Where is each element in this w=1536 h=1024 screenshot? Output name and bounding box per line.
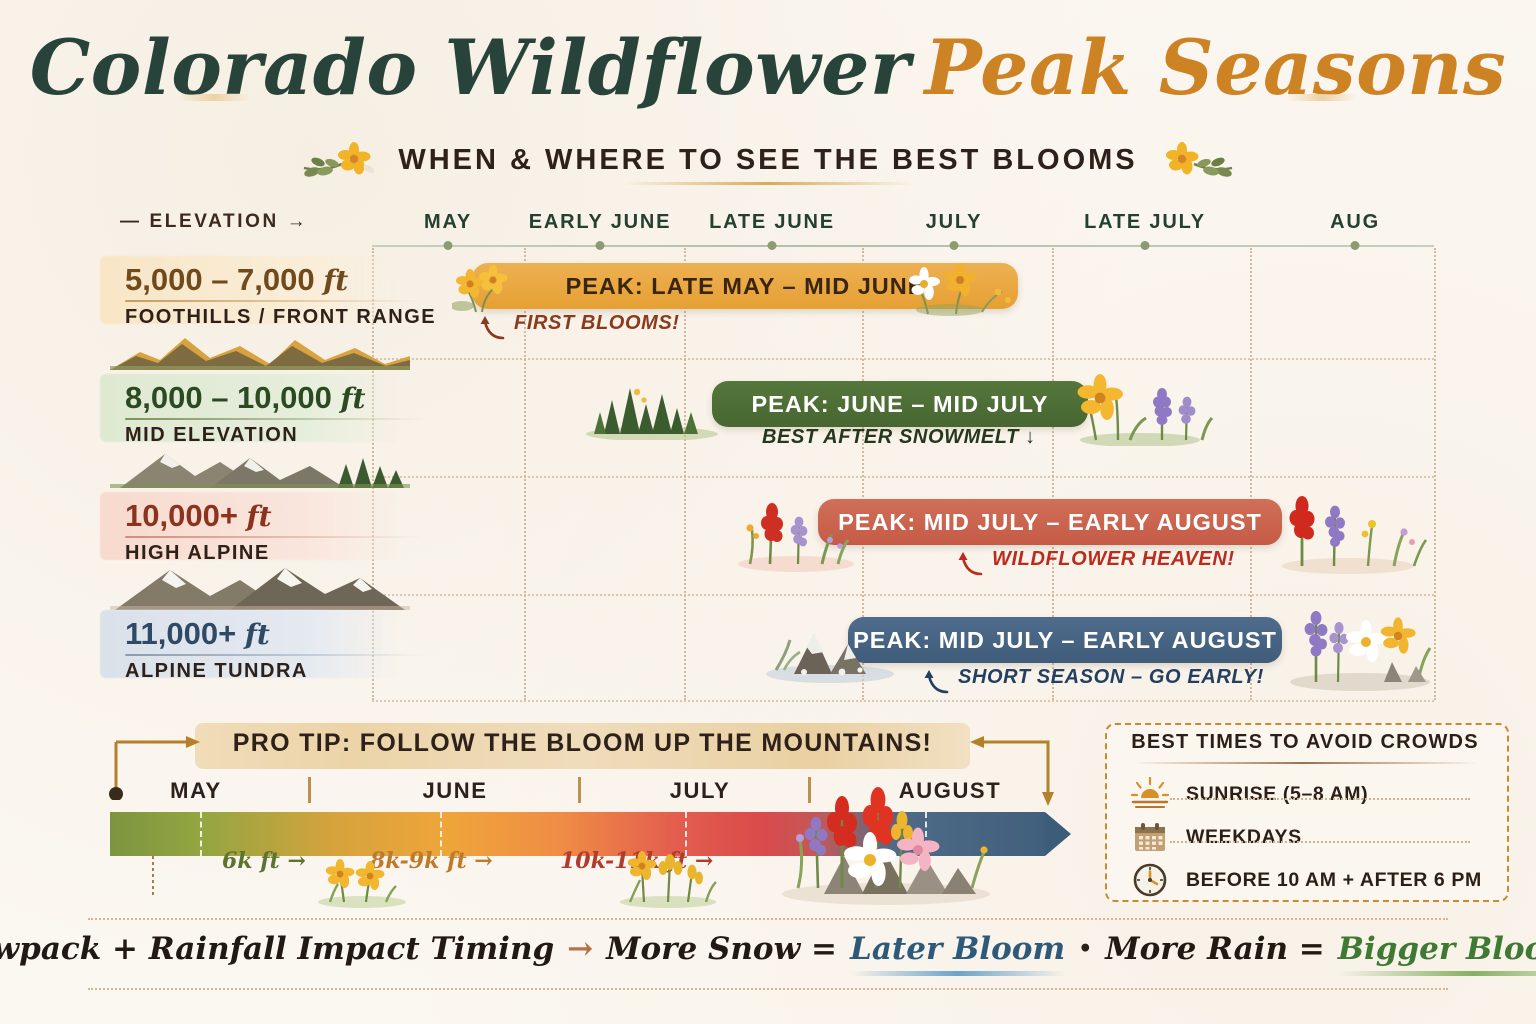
month-header-early-june: EARLY JUNE (529, 211, 672, 234)
bloom-elevation-label-10k11k: 10k-11k ft → (560, 848, 713, 874)
elevation-caption-tundra: ALPINE TUNDRA (125, 660, 308, 683)
footer-accent-text: Later Bloom (850, 931, 1065, 967)
elevation-value-tundra: 11,000+ ft (125, 616, 270, 652)
conifer-cluster-mid-icon (580, 378, 730, 445)
grid-line-horizontal (372, 594, 1434, 596)
elevation-value-mid: 8,000 – 10,000 ft (125, 380, 365, 416)
flower-cluster-mid-icon (1070, 368, 1220, 451)
axis-tick-dot (444, 241, 453, 250)
footer-divider-top (88, 918, 1448, 920)
protip-month-june: JUNE (422, 778, 487, 804)
annotation-mid: BEST AFTER SNOWMELT ↓ (762, 426, 1036, 449)
annotation-arrow-high-alpine-icon (952, 545, 986, 582)
grid-line-horizontal (372, 700, 1434, 702)
footer-accent-text: Bigger Blooms! (1338, 931, 1536, 967)
annotation-high-alpine: WILDFLOWER HEAVEN! (992, 548, 1235, 571)
bloom-bracket-left (152, 856, 154, 896)
title-flourish-left (178, 94, 250, 101)
elevation-number: 8,000 – 10,000 (125, 380, 332, 415)
footer-accent-underline (850, 971, 1065, 976)
best-times-label-weekdays: WEEKDAYS (1186, 826, 1302, 849)
flower-cluster-alpine-right-icon (1272, 486, 1432, 579)
mountain-illustration-high-alpine (110, 562, 410, 615)
subtitle-row: WHEN & WHERE TO SEE THE BEST BLOOMS (0, 138, 1536, 182)
best-times-title-divider (1132, 762, 1478, 764)
peak-bar-foothills[interactable]: PEAK: LATE MAY – MID JUNE (472, 263, 1018, 309)
month-header-may: MAY (424, 211, 472, 234)
axis-tick-dot (596, 241, 605, 250)
elevation-value-high-alpine: 10,000+ ft (125, 498, 272, 534)
elevation-unit: ft (247, 500, 272, 533)
bloom-bar-tick (925, 812, 927, 856)
grid-line-vertical (1434, 248, 1436, 700)
protip-month-july: JULY (670, 778, 731, 804)
grid-line-horizontal (372, 358, 1434, 360)
footer-phrase1-prefix: More Snow = (606, 931, 837, 967)
protip-tick (308, 777, 311, 803)
footer-arrow-icon: → (567, 931, 593, 967)
flower-cluster-tundra-icon (1280, 596, 1440, 697)
elevation-divider (125, 300, 425, 302)
best-times-divider (1170, 798, 1470, 800)
protip-month-august: AUGUST (899, 778, 1002, 804)
elevation-value-foothills: 5,000 – 7,000 ft (125, 262, 348, 298)
elevation-unit: ft (323, 264, 348, 297)
flower-sprig-left-icon (298, 138, 384, 182)
peak-bar-label: PEAK: MID JULY – EARLY AUGUST (853, 627, 1277, 654)
footer-accent-bigger-blooms: Bigger Blooms! (1338, 931, 1536, 967)
protip-tick (578, 777, 581, 803)
grid-line-horizontal (372, 476, 1434, 478)
month-header-late-july: LATE JULY (1084, 211, 1206, 234)
clock-icon (1130, 862, 1170, 898)
peak-bar-label: PEAK: JUNE – MID JULY (752, 391, 1049, 418)
axis-tick-dot (950, 241, 959, 250)
best-times-row-hours[interactable]: BEFORE 10 AM + AFTER 6 PM (1130, 858, 1490, 902)
footer-lead: Snowpack + Rainfall Impact Timing (0, 931, 554, 967)
footer-separator: • (1078, 936, 1092, 962)
footer-accent-later-bloom: Later Bloom (850, 931, 1065, 967)
protip-tick (808, 777, 811, 803)
footer-note: Snowpack + Rainfall Impact Timing → More… (0, 925, 1536, 973)
footer-accent-underline (1338, 971, 1536, 976)
infographic-canvas: Colorado WildflowerPeak Seasons (0, 0, 1536, 1024)
elevation-number: 10,000+ (125, 498, 238, 533)
elevation-divider (125, 654, 425, 656)
month-header-late-june: LATE JUNE (709, 211, 835, 234)
title-part-one: Colorado Wildflower (30, 23, 911, 112)
calendar-icon (1130, 820, 1170, 854)
best-times-row-weekdays[interactable]: WEEKDAYS (1130, 815, 1490, 859)
annotation-arrow-foothills-icon (474, 309, 508, 346)
best-times-row-sunrise[interactable]: SUNRISE (5–8 AM) (1130, 772, 1490, 816)
protip-text: PRO TIP: FOLLOW THE BLOOM UP THE MOUNTAI… (195, 729, 970, 758)
sunrise-icon (1130, 777, 1170, 811)
elevation-caption-foothills: FOOTHILLS / FRONT RANGE (125, 306, 436, 329)
axis-tick-dot (1351, 241, 1360, 250)
elevation-number: 5,000 – 7,000 (125, 262, 315, 297)
elevation-number: 11,000+ (125, 616, 236, 651)
subtitle-underline (623, 182, 913, 185)
title-flourish-right (1286, 94, 1358, 101)
axis-tick-dot (768, 241, 777, 250)
peak-bar-label: PEAK: MID JULY – EARLY AUGUST (838, 509, 1262, 536)
footer-phrase2-prefix: More Rain = (1105, 931, 1324, 967)
month-header-aug: AUG (1330, 211, 1380, 234)
elevation-caption-mid: MID ELEVATION (125, 424, 298, 447)
footer-divider-bottom (88, 988, 1448, 990)
best-times-label-hours: BEFORE 10 AM + AFTER 6 PM (1186, 869, 1482, 892)
month-header-july: JULY (926, 211, 983, 234)
grid-line-vertical (684, 248, 686, 700)
subtitle: WHEN & WHERE TO SEE THE BEST BLOOMS (398, 144, 1137, 177)
mountain-illustration-mid (110, 446, 410, 493)
flower-sprig-right-icon (1152, 138, 1238, 182)
best-times-label-sunrise: SUNRISE (5–8 AM) (1186, 783, 1368, 806)
axis-tick-dot (1141, 241, 1150, 250)
peak-bar-high-alpine[interactable]: PEAK: MID JULY – EARLY AUGUST (818, 499, 1282, 545)
bloom-elevation-label-8k9k: 8k-9k ft → (370, 848, 493, 874)
bloom-progression-arrowhead (1045, 812, 1071, 856)
protip-month-may: MAY (170, 778, 222, 804)
best-times-divider (1170, 841, 1470, 843)
bloom-bar-tick (200, 812, 202, 856)
peak-bar-label: PEAK: LATE MAY – MID JUNE (566, 273, 925, 300)
title-part-two: Peak Seasons (924, 23, 1506, 112)
annotation-tundra: SHORT SEASON – GO EARLY! (958, 666, 1264, 689)
timeline-axis (372, 245, 1434, 247)
elevation-divider (125, 536, 425, 538)
bloom-elevation-label-6k: 6k ft → (222, 848, 306, 874)
best-times-title: BEST TIMES TO AVOID CROWDS (1105, 731, 1505, 754)
peak-bar-mid[interactable]: PEAK: JUNE – MID JULY (712, 381, 1088, 427)
elevation-unit: ft (245, 618, 270, 651)
elevation-divider (125, 418, 425, 420)
mountain-illustration-foothills (110, 330, 410, 375)
annotation-foothills: FIRST BLOOMS! (514, 312, 680, 335)
peak-bar-tundra[interactable]: PEAK: MID JULY – EARLY AUGUST (848, 617, 1282, 663)
annotation-arrow-tundra-icon (918, 663, 952, 700)
elevation-axis-label: — ELEVATION → (120, 211, 308, 233)
elevation-unit: ft (340, 382, 365, 415)
